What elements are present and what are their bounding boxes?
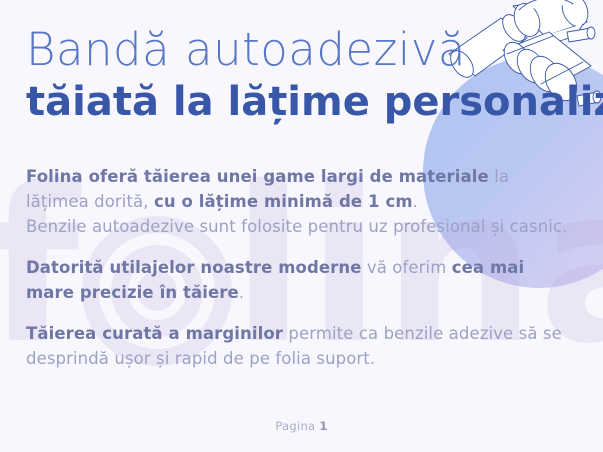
paragraph-3: Datorită utilajelor noastre moderne vă o… <box>26 255 577 305</box>
page-number: 1 <box>319 419 327 433</box>
paragraph-4-bold-1: Tăierea curată a marginilor <box>26 324 283 343</box>
paragraph-1-plain-2: . <box>413 192 418 211</box>
paragraph-1-bold-1: Folina oferă tăierea unei game largi de … <box>26 167 489 186</box>
page-title-line-1: Bandă autoadezivă <box>26 24 577 76</box>
paragraph-2-plain-1: Benzile autoadezive sunt folosite pentru… <box>26 217 567 236</box>
paragraph-3-bold-1: Datorită utilajelor noastre moderne <box>26 258 362 277</box>
paragraph-1: Folina oferă tăierea unei game largi de … <box>26 164 577 214</box>
paragraph-3-plain-2: . <box>239 283 244 302</box>
body-text-block: Folina oferă tăierea unei game largi de … <box>26 164 577 371</box>
page-title-line-2: tăiată la lățime personalizată <box>26 78 577 126</box>
paragraph-2: Benzile autoadezive sunt folosite pentru… <box>26 214 577 239</box>
page-footer-label: Pagina <box>275 419 319 433</box>
page-footer: Pagina 1 <box>0 419 603 433</box>
paragraph-4: Tăierea curată a marginilor permite ca b… <box>26 321 577 371</box>
slide-content: Bandă autoadezivă tăiată la lățime perso… <box>0 0 603 371</box>
paragraph-1-bold-2: cu o lățime minimă de 1 cm <box>154 192 413 211</box>
presentation-slide: f lina <box>0 0 603 452</box>
paragraph-3-plain-1: vă oferim <box>362 258 452 277</box>
